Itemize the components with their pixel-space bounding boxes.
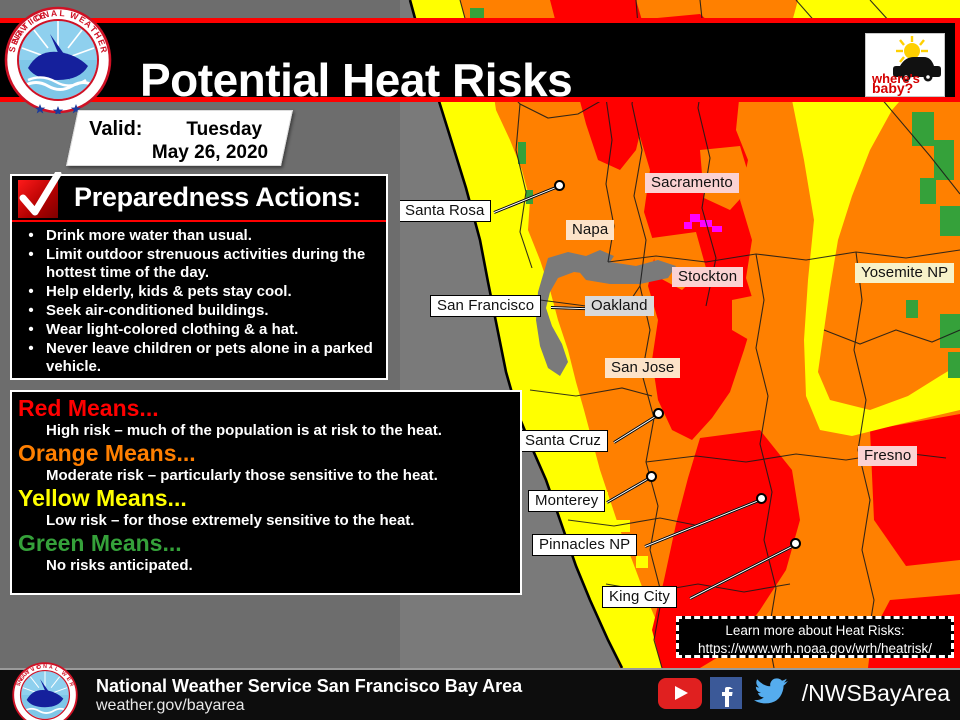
valid-day: Tuesday	[186, 119, 276, 141]
preparedness-item-text: Help elderly, kids & pets stay cool.	[46, 283, 380, 301]
social-links: /NWSBayArea	[658, 676, 950, 710]
city-label-oakland[interactable]: Oakland	[585, 296, 654, 316]
city-label-fresno[interactable]: Fresno	[858, 446, 917, 466]
heat-risk-graphic: Santa RosaSan FranciscoSanta CruzMontere…	[0, 0, 960, 720]
preparedness-title: Preparedness Actions:	[74, 182, 361, 213]
preparedness-item: •Seek air-conditioned buildings.	[16, 302, 380, 320]
svg-text:N: N	[43, 664, 47, 670]
svg-text:A: A	[50, 8, 57, 19]
youtube-icon[interactable]	[658, 678, 702, 709]
preparedness-item-text: Seek air-conditioned buildings.	[46, 302, 380, 320]
link-box-line2[interactable]: https://www.wrh.noaa.gov/wrh/heatrisk/	[679, 640, 951, 658]
nws-seal-icon: N A T I O N A L W E A T H E R S E R V I	[4, 6, 112, 114]
social-handle: /NWSBayArea	[802, 680, 950, 707]
preparedness-item-text: Wear light-colored clothing & a hat.	[46, 321, 380, 339]
link-box-line1: Learn more about Heat Risks:	[679, 622, 951, 640]
legend-heading: Green Means...	[18, 531, 512, 557]
twitter-icon[interactable]	[750, 676, 790, 710]
title-bar: Potential Heat Risks where's baby?	[0, 18, 960, 102]
city-label-santa-rosa[interactable]: Santa Rosa	[400, 200, 491, 222]
city-label-pinnacles-np[interactable]: Pinnacles NP	[532, 534, 637, 556]
legend-description: Low risk – for those extremely sensitive…	[18, 512, 512, 529]
legend-description: Moderate risk – particularly those sensi…	[18, 467, 512, 484]
footer-agency: National Weather Service San Francisco B…	[96, 676, 522, 697]
risk-legend-panel: Red Means...High risk – much of the popu…	[10, 390, 522, 595]
facebook-icon[interactable]	[710, 677, 742, 709]
legend-description: No risks anticipated.	[18, 557, 512, 574]
city-label-stockton[interactable]: Stockton	[672, 267, 743, 287]
valid-date: May 26, 2020	[89, 142, 276, 164]
nws-seal-footer-icon: N A T I O N A L W E R S E R V C	[12, 662, 78, 720]
city-label-santa-cruz[interactable]: Santa Cruz	[518, 430, 608, 452]
preparedness-item: •Help elderly, kids & pets stay cool.	[16, 283, 380, 301]
preparedness-item-text: Limit outdoor strenuous activities durin…	[46, 246, 380, 282]
bullet-icon: •	[16, 227, 46, 245]
city-marker-dot	[646, 471, 657, 482]
city-label-sacramento[interactable]: Sacramento	[645, 173, 739, 193]
preparedness-panel: Preparedness Actions: •Drink more water …	[10, 174, 388, 380]
legend-heading: Yellow Means...	[18, 486, 512, 512]
city-label-napa[interactable]: Napa	[566, 220, 614, 240]
city-label-monterey[interactable]: Monterey	[528, 490, 605, 512]
checkmark-icon	[18, 172, 64, 220]
preparedness-header: Preparedness Actions:	[12, 176, 386, 222]
preparedness-item-text: Drink more water than usual.	[46, 227, 380, 245]
legend-heading: Orange Means...	[18, 441, 512, 467]
footer-website[interactable]: weather.gov/bayarea	[96, 697, 245, 715]
footer-bar: N A T I O N A L W E R S E R V C	[0, 668, 960, 720]
preparedness-item: •Never leave children or pets alone in a…	[16, 340, 380, 376]
wheres-baby-logo: where's baby?	[865, 33, 945, 97]
preparedness-list: •Drink more water than usual.•Limit outd…	[12, 222, 386, 376]
city-label-king-city[interactable]: King City	[602, 586, 677, 608]
legend-heading: Red Means...	[18, 396, 512, 422]
legend-description: High risk – much of the population is at…	[18, 422, 512, 439]
city-label-san-francisco[interactable]: San Francisco	[430, 295, 541, 317]
heatrisk-link-box[interactable]: Learn more about Heat Risks: https://www…	[676, 616, 954, 658]
preparedness-item-text: Never leave children or pets alone in a …	[46, 340, 380, 376]
svg-text:baby?: baby?	[872, 80, 913, 96]
preparedness-item: •Wear light-colored clothing & a hat.	[16, 321, 380, 339]
preparedness-item: •Limit outdoor strenuous activities duri…	[16, 246, 380, 282]
city-marker-dot	[756, 493, 767, 504]
bullet-icon: •	[16, 302, 46, 320]
bullet-icon: •	[16, 321, 46, 339]
city-label-san-jose[interactable]: San Jose	[605, 358, 680, 378]
svg-text:L: L	[59, 8, 65, 18]
preparedness-item: •Drink more water than usual.	[16, 227, 380, 245]
valid-label: Valid:	[89, 118, 142, 141]
bullet-icon: •	[16, 340, 46, 376]
bullet-icon: •	[16, 246, 46, 282]
page-title: Potential Heat Risks	[140, 53, 840, 107]
valid-date-box: Valid: Tuesday May 26, 2020	[66, 110, 293, 166]
bullet-icon: •	[16, 283, 46, 301]
city-label-yosemite-np[interactable]: Yosemite NP	[855, 263, 954, 283]
city-marker-dot	[554, 180, 565, 191]
